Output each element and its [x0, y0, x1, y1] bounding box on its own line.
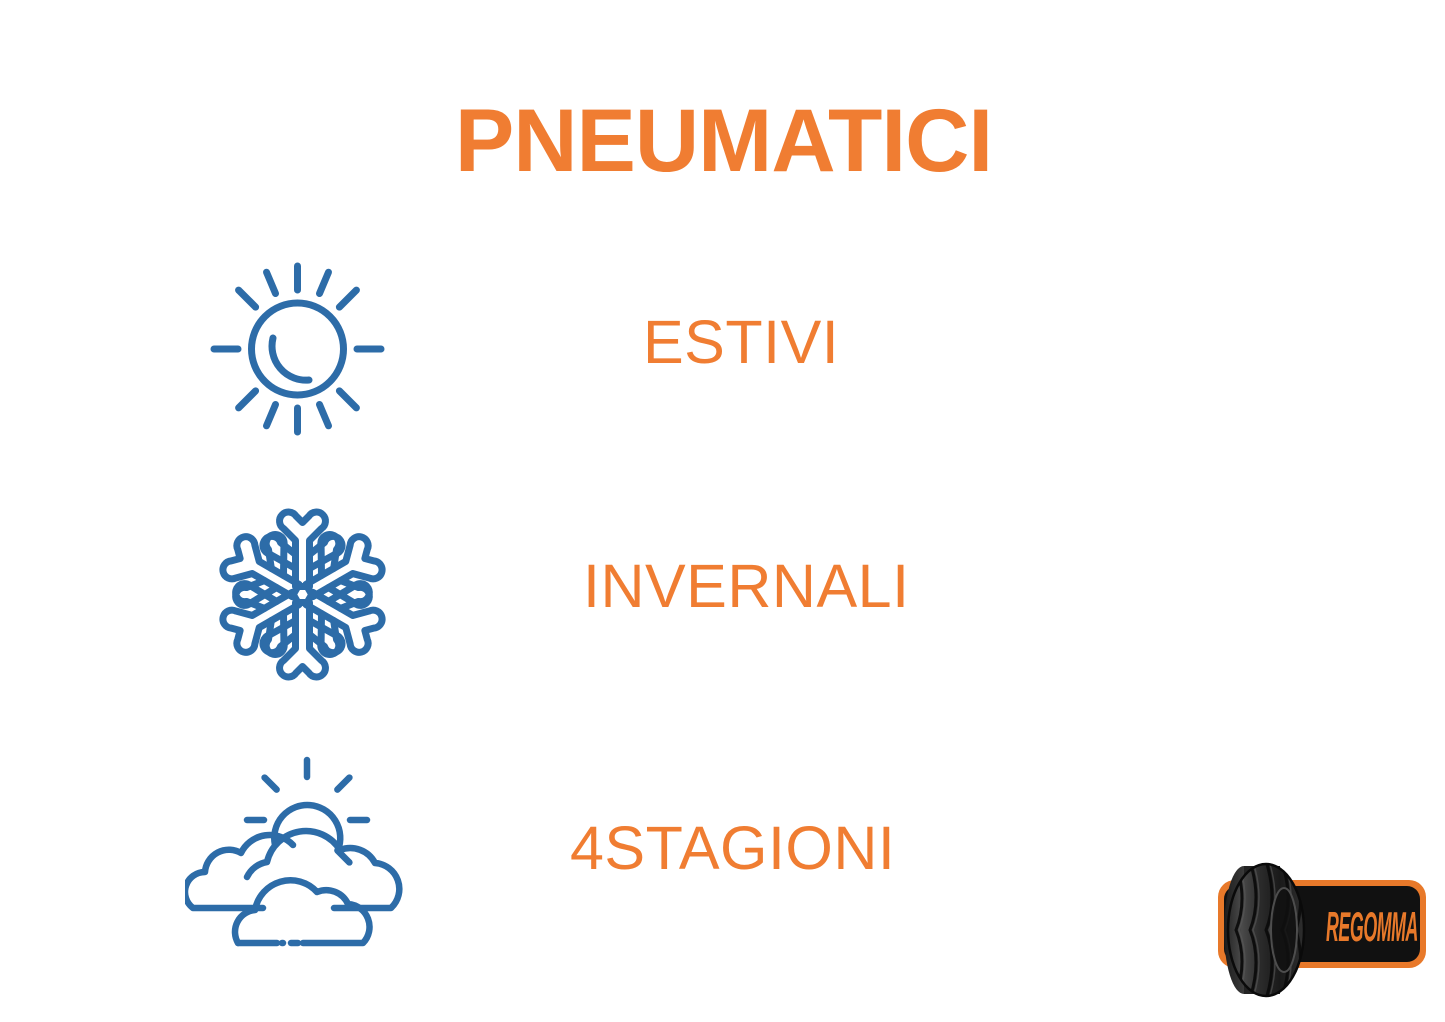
page-title-text: PNEUMATICI — [455, 96, 992, 185]
tyre-type-label-summer: ESTIVI — [643, 312, 839, 373]
regomma-logo[interactable]: REGOMMA — [1192, 858, 1440, 1006]
tyre-type-label-winter: INVERNALI — [583, 556, 910, 617]
tyre-type-label-all-season: 4STAGIONI — [570, 818, 895, 879]
tyre-icon — [1224, 861, 1304, 999]
page-title: PNEUMATICI — [0, 96, 1445, 185]
tyre-type-row-winter: INVERNALI — [0, 500, 1445, 700]
tyre-type-row-summer: ESTIVI — [0, 255, 1445, 455]
logo-wordmark: REGOMMA — [1326, 903, 1418, 950]
sun-icon — [205, 260, 390, 438]
sun-behind-clouds-icon — [185, 750, 420, 950]
snowflake-icon — [215, 502, 390, 687]
poster-canvas: PNEUMATICI — [0, 0, 1445, 1022]
